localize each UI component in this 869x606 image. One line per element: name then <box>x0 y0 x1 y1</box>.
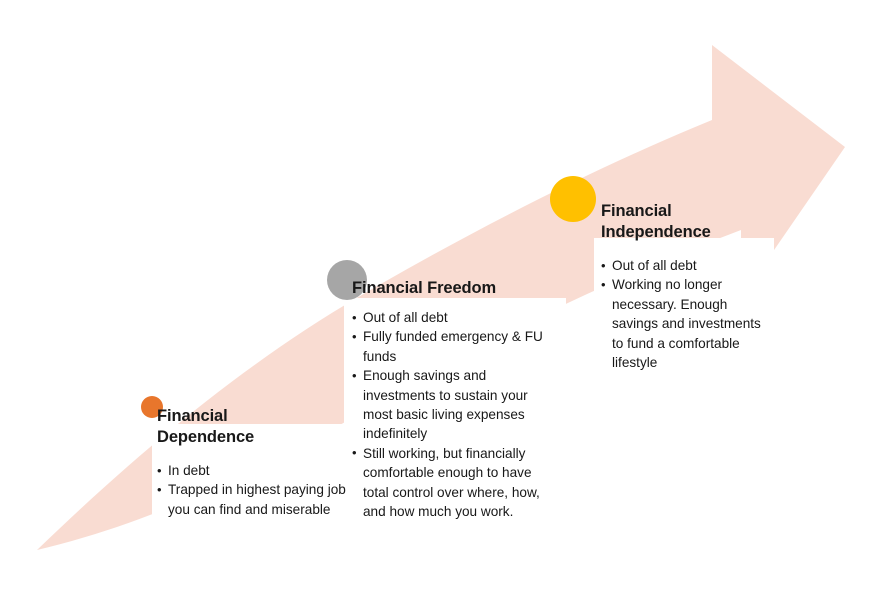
list-item: Out of all debt <box>601 256 761 275</box>
stage-marker-independence <box>550 176 596 222</box>
list-item: Trapped in highest paying job you can fi… <box>157 480 347 519</box>
list-item: Working no longer necessary. Enough savi… <box>601 275 761 372</box>
stage-bullets-independence: Out of all debt Working no longer necess… <box>601 256 761 372</box>
list-item: Still working, but financially comfortab… <box>352 444 557 522</box>
stage-heading-independence: Financial Independence <box>601 201 751 243</box>
list-item: Out of all debt <box>352 308 557 327</box>
stage-bullets-dependence: In debt Trapped in highest paying job yo… <box>157 461 347 519</box>
list-item: Fully funded emergency & FU funds <box>352 327 557 366</box>
stage-heading-dependence: Financial Dependence <box>157 406 307 448</box>
infographic-canvas: Financial Dependence In debt Trapped in … <box>0 0 869 606</box>
list-item: In debt <box>157 461 347 480</box>
stage-bullets-freedom: Out of all debt Fully funded emergency &… <box>352 308 557 521</box>
stage-heading-freedom: Financial Freedom <box>352 278 552 299</box>
list-item: Enough savings and investments to sustai… <box>352 366 557 444</box>
